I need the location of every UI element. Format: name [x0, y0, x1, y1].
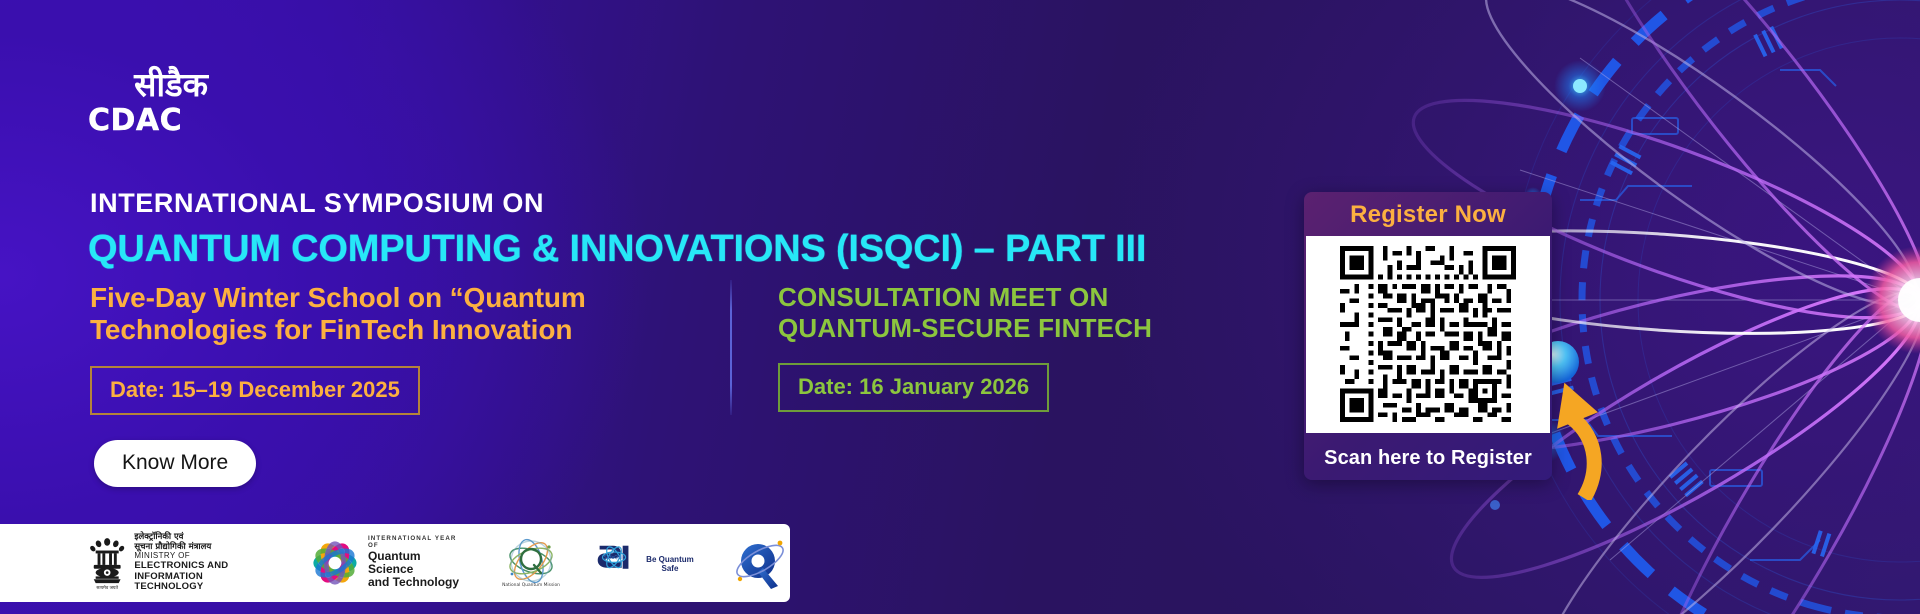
register-now-title: Register Now: [1304, 192, 1552, 229]
column-divider: [730, 280, 732, 415]
nqm-caption: National Quantum Mission: [502, 582, 560, 588]
winter-school-heading-line2: Technologies for FinTech Innovation: [90, 314, 710, 346]
cdac-logo[interactable]: सीडैक CDAC: [88, 68, 210, 138]
consultation-heading-line1: CONSULTATION MEET ON: [778, 282, 1248, 313]
event-title: QUANTUM COMPUTING & INNOVATIONS (ISQCI) …: [88, 228, 1146, 271]
partner-logo-iyq[interactable]: INTERNATIONAL YEAR OF Quantum Science an…: [311, 524, 466, 602]
cdac-logo-hindi: सीडैक: [88, 68, 210, 104]
qr-code-icon[interactable]: [1340, 243, 1516, 425]
iyq-line2: Quantum Science: [368, 550, 466, 576]
blue-q-orbit-icon: [730, 534, 790, 592]
winter-school-date: Date: 15–19 December 2025: [90, 366, 420, 415]
ashoka-emblem-icon: सत्यमेव जयते: [88, 535, 126, 591]
partner-logo-strip: सत्यमेव जयते इलेक्ट्रॉनिकी एवं सूचना प्र…: [0, 524, 790, 602]
nqm-q-icon: National Quantum Mission: [502, 534, 560, 592]
promotional-banner: सीडैक CDAC INTERNATIONAL SYMPOSIUM ON QU…: [0, 0, 1920, 614]
partner-logo-safeqbit[interactable]: SafeQbit Be Quantum Safe: [590, 524, 702, 602]
consultation-date: Date: 16 January 2026: [778, 363, 1049, 412]
iyq-line3: and Technology: [368, 576, 466, 589]
register-caption: Scan here to Register: [1304, 447, 1552, 470]
iyq-line1: INTERNATIONAL YEAR OF: [368, 536, 466, 550]
register-panel[interactable]: Register Now: [1304, 192, 1552, 480]
meity-en-line3: INFORMATION TECHNOLOGY: [134, 572, 269, 593]
consultation-heading-line2: QUANTUM-SECURE FINTECH: [778, 313, 1248, 344]
know-more-button[interactable]: Know More: [94, 440, 256, 487]
svg-text:सत्यमेव जयते: सत्यमेव जयते: [96, 585, 118, 591]
safeqbit-icon: SafeQbit: [590, 541, 638, 585]
cdac-logo-latin: CDAC: [88, 106, 210, 136]
svg-text:SafeQbit: SafeQbit: [604, 555, 625, 561]
partner-logo-nqm[interactable]: National Quantum Mission: [502, 524, 560, 602]
event-consultation-meet: CONSULTATION MEET ON QUANTUM-SECURE FINT…: [778, 282, 1248, 412]
event-winter-school: Five-Day Winter School on “Quantum Techn…: [90, 282, 710, 415]
iyq-atom-icon: [311, 539, 359, 587]
partner-logo-quantum-q[interactable]: [730, 524, 790, 602]
event-headline: INTERNATIONAL SYMPOSIUM ON: [90, 188, 544, 219]
winter-school-heading-line1: Five-Day Winter School on “Quantum: [90, 282, 710, 314]
safeqbit-caption: Be Quantum Safe: [638, 555, 702, 573]
qr-code-container[interactable]: [1306, 236, 1550, 433]
partner-logo-meity[interactable]: सत्यमेव जयते इलेक्ट्रॉनिकी एवं सूचना प्र…: [88, 524, 269, 602]
